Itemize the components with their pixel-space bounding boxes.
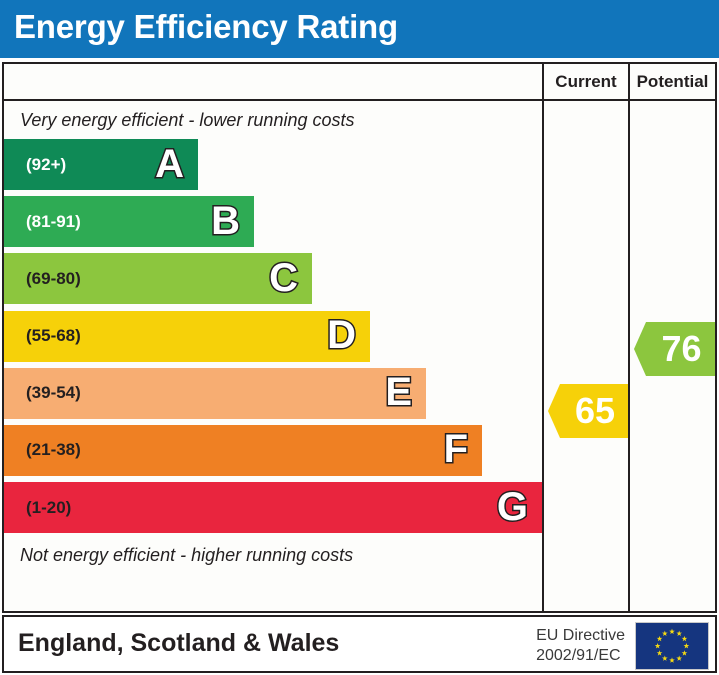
eu-directive-label: EU Directive 2002/91/EC xyxy=(536,626,625,667)
band-range-label: (55-68) xyxy=(26,326,81,346)
band-letter-label: F xyxy=(444,430,468,470)
band-letter-label: G xyxy=(497,487,528,527)
band-row: (69-80)C xyxy=(4,251,542,308)
column-header-potential: Potential xyxy=(628,64,715,99)
eu-directive-line1: EU Directive xyxy=(536,626,625,646)
band-letter-label: E xyxy=(385,372,412,412)
potential-rating-value: 76 xyxy=(647,331,701,367)
band-range-label: (21-38) xyxy=(26,440,81,460)
footer-region-label: England, Scotland & Wales xyxy=(18,629,339,658)
band-b: (81-91)B xyxy=(4,196,254,247)
current-rating-arrow: 65 xyxy=(548,384,628,438)
band-c: (69-80)C xyxy=(4,253,312,304)
band-d: (55-68)D xyxy=(4,311,370,362)
column-header-row: Current Potential xyxy=(4,64,715,101)
band-row: (1-20)G xyxy=(4,480,542,537)
band-a: (92+)A xyxy=(4,139,198,190)
band-range-label: (69-80) xyxy=(26,269,81,289)
band-row: (92+)A xyxy=(4,137,542,194)
band-row: (81-91)B xyxy=(4,194,542,251)
title-bar: Energy Efficiency Rating xyxy=(0,0,719,58)
band-range-label: (81-91) xyxy=(26,212,81,232)
band-range-label: (39-54) xyxy=(26,383,81,403)
page-title: Energy Efficiency Rating xyxy=(14,8,398,46)
band-letter-label: C xyxy=(269,258,298,298)
band-row: (21-38)F xyxy=(4,423,542,480)
band-range-label: (1-20) xyxy=(26,498,71,518)
band-letter-label: B xyxy=(211,201,240,241)
band-f: (21-38)F xyxy=(4,425,482,476)
potential-rating-arrow: 76 xyxy=(634,322,715,376)
band-letter-label: D xyxy=(327,315,356,355)
rating-chart: Current Potential Very energy efficient … xyxy=(2,62,717,613)
footer-bar: England, Scotland & Wales EU Directive 2… xyxy=(2,615,717,673)
band-g: (1-20)G xyxy=(4,482,542,533)
band-row: (39-54)E xyxy=(4,366,542,423)
eu-directive-line2: 2002/91/EC xyxy=(536,646,625,666)
column-divider-potential xyxy=(628,101,630,611)
caption-efficient: Very energy efficient - lower running co… xyxy=(4,103,542,137)
current-rating-value: 65 xyxy=(561,393,615,429)
column-divider-current xyxy=(542,101,544,611)
caption-inefficient: Not energy efficient - higher running co… xyxy=(4,538,542,572)
band-list: (92+)A(81-91)B(69-80)C(55-68)D(39-54)E(2… xyxy=(4,137,542,537)
band-row: (55-68)D xyxy=(4,309,542,366)
band-letter-label: A xyxy=(155,144,184,184)
eu-flag-icon xyxy=(635,622,709,670)
band-range-label: (92+) xyxy=(26,155,66,175)
epc-certificate: Energy Efficiency Rating Current Potenti… xyxy=(0,0,719,675)
column-header-current: Current xyxy=(542,64,628,99)
band-e: (39-54)E xyxy=(4,368,426,419)
